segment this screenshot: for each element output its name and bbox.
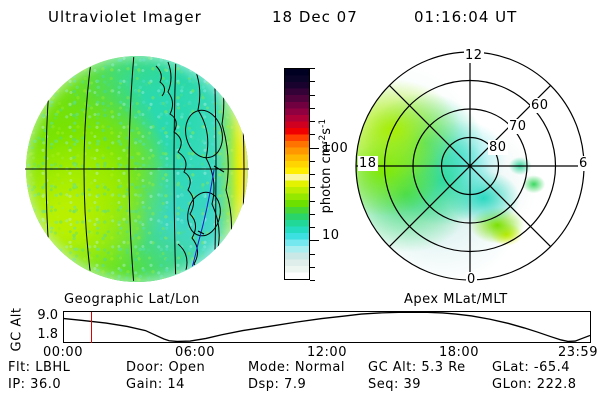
status-seq: Seq: 39: [368, 377, 421, 392]
status-footer: Flt: LBHLDoor: OpenMode: NormalGC Alt: 5…: [0, 360, 600, 398]
altitude-xtick-0000: 00:00: [43, 345, 83, 360]
colorbar-gradient-box: [284, 68, 310, 280]
colorbar-tick: [310, 134, 315, 135]
colorbar-unit-mid: s: [319, 128, 334, 135]
altitude-ytick-low: 1.8: [28, 327, 58, 342]
status-flt: Flt: LBHL: [8, 360, 70, 375]
status-gain: Gain: 14: [126, 377, 185, 392]
status-dsp: Dsp: 7.9: [248, 377, 306, 392]
colorbar-tick: [310, 227, 315, 228]
mlt-label-6: 6: [578, 156, 589, 171]
altitude-xtick-0600: 06:00: [175, 345, 215, 360]
altitude-axis-label: GC Alt: [10, 301, 25, 359]
altitude-curve: [64, 312, 590, 342]
colorbar-tick: [310, 280, 315, 281]
status-mode: Mode: Normal: [248, 360, 345, 375]
colorbar-tick: [310, 254, 315, 255]
status-door: Door: Open: [126, 360, 205, 375]
apex-polar-panel: 12 18 6 0 60 70 80: [340, 46, 596, 298]
mlt-label-12: 12: [464, 48, 484, 63]
observation-date: 18 Dec 07: [272, 8, 358, 26]
geographic-grid-overlay: [18, 48, 268, 298]
altitude-plot-box: [63, 311, 591, 343]
mlt-label-0: 0: [466, 272, 477, 287]
colorbar-label-10: 10: [322, 228, 340, 243]
colorbar-axis-title: photon cm-2s-1: [318, 86, 334, 246]
geographic-panel: [18, 48, 268, 298]
mlat-label-70: 70: [508, 119, 528, 134]
colorbar-tick: [310, 201, 315, 202]
mlat-label-60: 60: [530, 98, 550, 113]
colorbar-tick: [310, 187, 315, 188]
altitude-xtick-1200: 12:00: [307, 345, 347, 360]
status-glon: GLon: 222.8: [492, 377, 577, 392]
colorbar-tick: [310, 174, 315, 175]
polar-panel-caption: Apex MLat/MLT: [404, 292, 508, 307]
header-bar: Ultraviolet Imager 18 Dec 07 01:16:04 UT: [0, 6, 600, 32]
colorbar-tick: [310, 267, 315, 268]
status-gc-alt: GC Alt: 5.3 Re: [368, 360, 466, 375]
colorbar-tick: [310, 240, 319, 241]
colorbar-tick: [310, 68, 315, 69]
colorbar-gradient: [285, 69, 309, 279]
altitude-xtick-1800: 18:00: [439, 345, 479, 360]
current-time-marker: [91, 312, 93, 343]
colorbar-tick: [310, 95, 315, 96]
status-ip: IP: 36.0: [8, 377, 61, 392]
colorbar-tick: [310, 81, 315, 82]
mlt-label-18: 18: [358, 156, 378, 171]
status-glat: GLat: -65.4: [492, 360, 570, 375]
page-title: Ultraviolet Imager: [48, 8, 202, 26]
mlat-label-80: 80: [488, 140, 508, 155]
altitude-xtick-2359: 23:59: [558, 345, 598, 360]
geographic-panel-caption: Geographic Lat/Lon: [64, 292, 200, 307]
altitude-ytick-high: 9.0: [28, 308, 58, 323]
colorbar-tick: [310, 214, 315, 215]
polar-grid-overlay: [340, 46, 596, 298]
colorbar-tick: [310, 121, 315, 122]
colorbar-tick: [310, 108, 315, 109]
colorbar-tick-marks: [310, 68, 320, 280]
colorbar-tick: [310, 161, 315, 162]
colorbar-tick: [310, 148, 319, 149]
altitude-strip-chart: GC Alt 9.0 1.8 00:0006:0012:0018:0023:59: [0, 308, 600, 356]
observation-time: 01:16:04 UT: [414, 8, 517, 26]
